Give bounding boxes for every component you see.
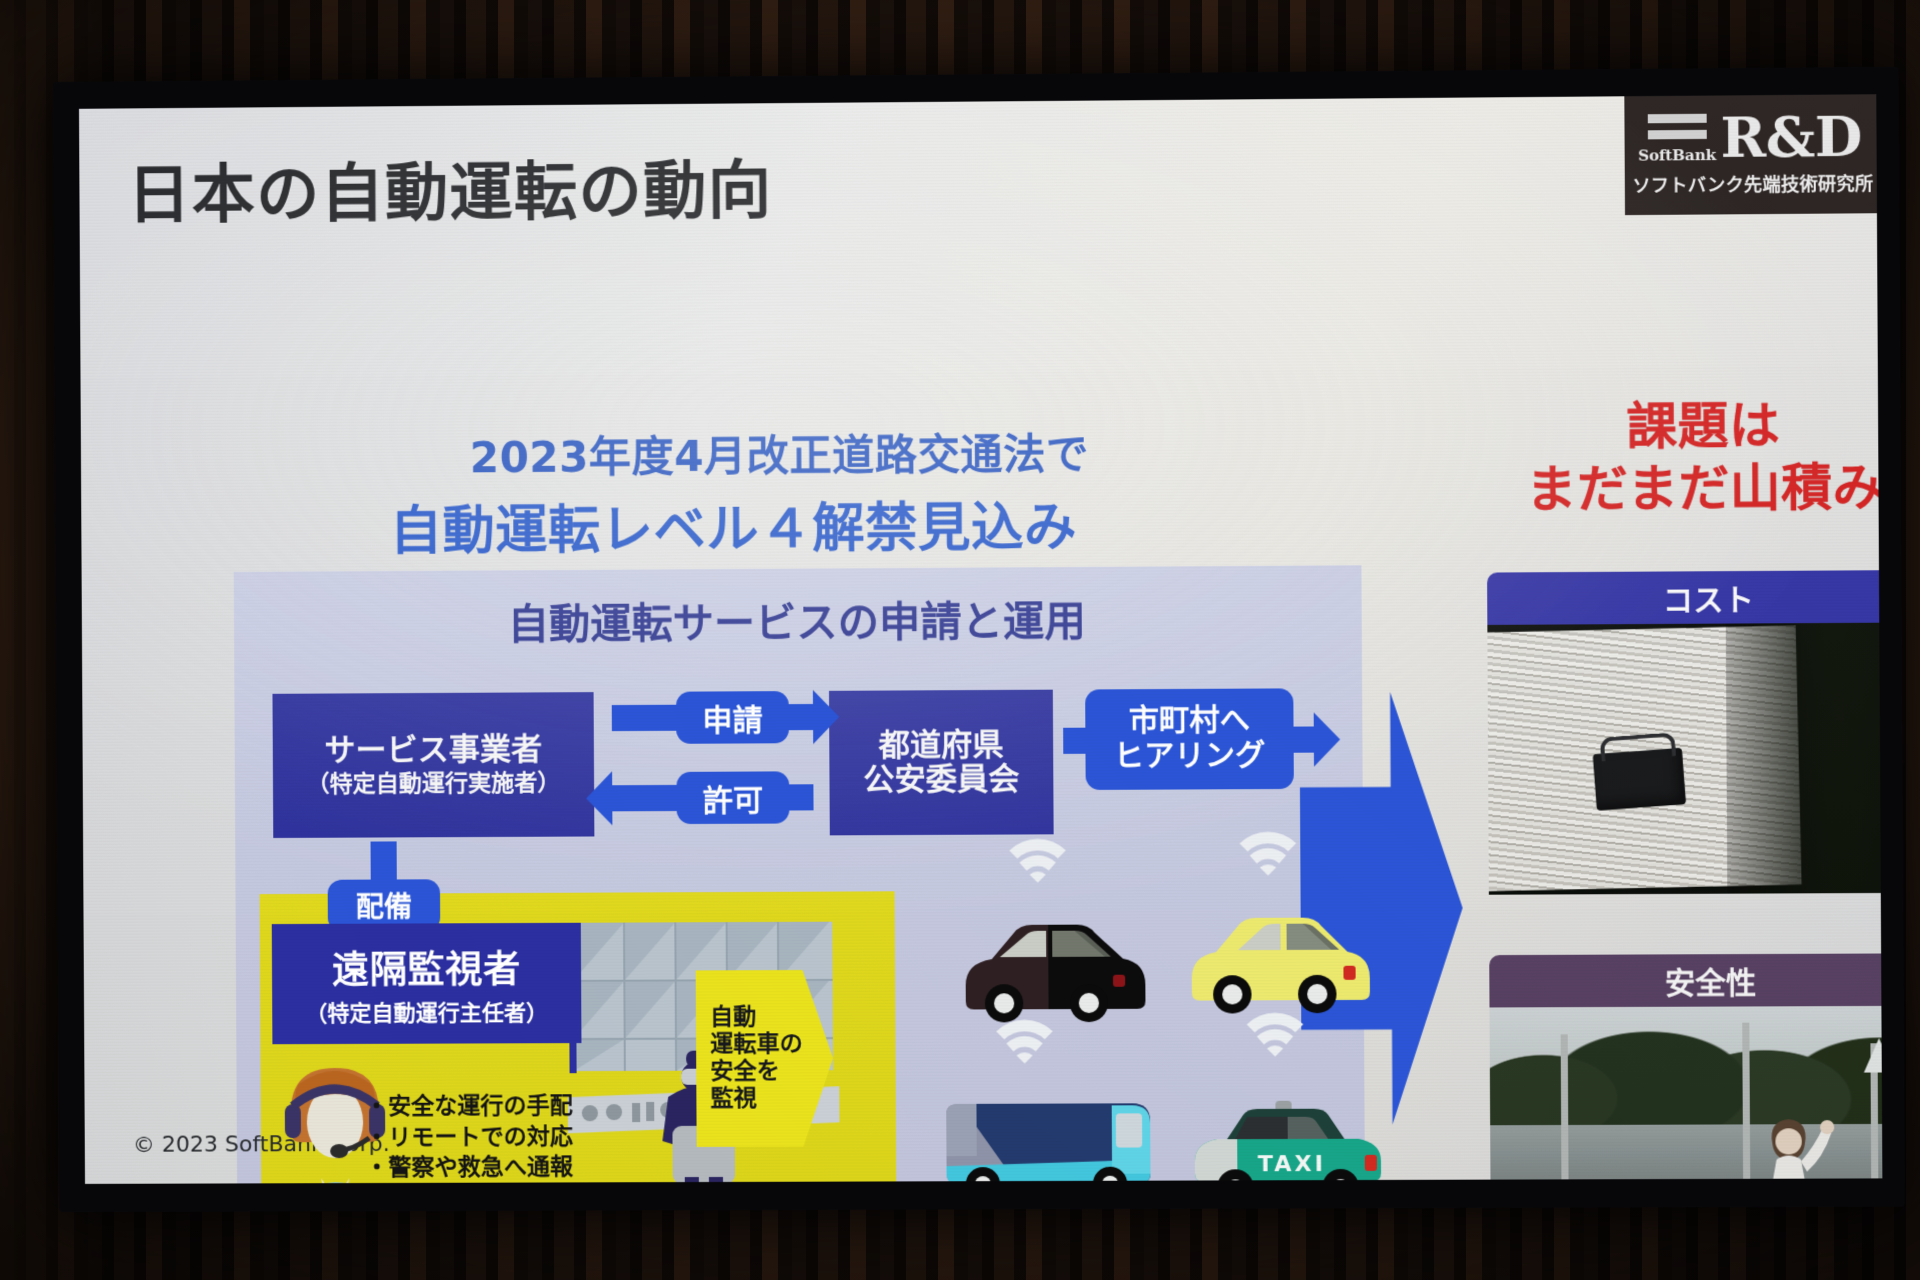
rd-text: R&D [1720,112,1861,165]
box-pubsafety-line1: 都道府県 [879,728,1004,763]
process-diagram-panel: 自動運転サービスの申請と運用 [234,565,1366,1184]
list-item: ・現場へ出動・対応 など [365,1183,653,1184]
issue-card-safety-title: 安全性 [1489,953,1882,1007]
box-service-provider: サービス事業者 （特定自動運行実施者） [272,692,594,838]
label-municipality-hearing: 市町村へ ヒアリング [1085,688,1294,790]
lead-line-1: 2023年度4月改正道路交通法で [470,420,1089,485]
box-service-provider-subtitle: （特定自動運行実施者） [306,770,560,798]
vehicle-icon-car-yellow [1181,893,1374,1023]
list-item: ・安全な運行の手配 [365,1091,653,1123]
list-item: ・リモートでの対応 [365,1122,653,1154]
display-screen-bezel: 日本の自動運転の動向 SoftBank R&D ソフトバンク先端技術研究所 20… [53,67,1905,1212]
issue-card-cost: コスト [1487,570,1882,895]
issue-card-safety: 安全性 [1489,953,1882,1184]
box-service-provider-title: サービス事業者 [324,732,542,767]
issues-headline-line2: まだまだ山積み [1458,447,1882,523]
lead-line-2: 自動運転レベル４解禁見込み [390,485,1077,564]
box-remote-monitor: 遠隔監視者 （特定自動運行主任者） [272,923,582,1044]
pedestrian-illustration [1742,1107,1836,1184]
label-apply: 申請 [676,691,789,744]
list-item: ・警察や救急へ通報 [365,1152,653,1184]
issue-card-safety-photo [1490,1006,1883,1184]
process-heading: 自動運転サービスの申請と運用 [234,585,1362,652]
softbank-mark: SoftBank [1643,114,1710,165]
duty-note: など [607,1183,653,1184]
binder-clip-icon [1592,748,1685,811]
monitoring-callout-line4: 監視 [710,1086,803,1114]
taxi-sign-text: TAXI [1258,1152,1326,1177]
wifi-signal-icon [1235,829,1300,878]
rd-subtitle: ソフトバンク先端技術研究所 [1632,170,1873,198]
box-remote-monitor-subtitle: （特定自動運行主任者） [305,995,548,1028]
presentation-slide: 日本の自動運転の動向 SoftBank R&D ソフトバンク先端技術研究所 20… [79,94,1882,1184]
box-remote-monitor-title: 遠隔監視者 [332,939,522,994]
wifi-signal-icon [1005,836,1070,885]
vehicle-icon-bus [940,1069,1171,1184]
box-prefectural-public-safety-commission: 都道府県 公安委員会 [829,690,1054,836]
label-permit: 許可 [676,771,789,824]
monitoring-callout-line3: 安全を [710,1058,803,1086]
page-title: 日本の自動運転の動向 [127,139,772,235]
presentation-room: 日本の自動運転の動向 SoftBank R&D ソフトバンク先端技術研究所 20… [0,0,1920,1280]
softbank-brand-text: SoftBank [1638,146,1716,165]
monitoring-callout-line2: 運転車の [710,1031,803,1059]
box-pubsafety-line2: 公安委員会 [863,762,1019,797]
softbank-equals-icon [1647,114,1706,147]
issue-card-cost-photo [1487,622,1882,894]
softbank-rd-logo: SoftBank R&D ソフトバンク先端技術研究所 [1624,94,1881,215]
duty-list: ・安全な運行の手配 ・リモートでの対応 ・警察や救急へ通報 ・現場へ出動・対応 … [365,1091,654,1184]
vehicle-icon-taxi: TAXI [1186,1078,1389,1184]
issue-card-cost-title: コスト [1487,570,1882,625]
vehicle-icon-car-dark [951,898,1154,1029]
monitoring-callout-line1: 自動 [710,1004,803,1032]
label-hearing-line1: 市町村へ [1113,704,1265,740]
label-hearing-line2: ヒアリング [1114,739,1266,775]
